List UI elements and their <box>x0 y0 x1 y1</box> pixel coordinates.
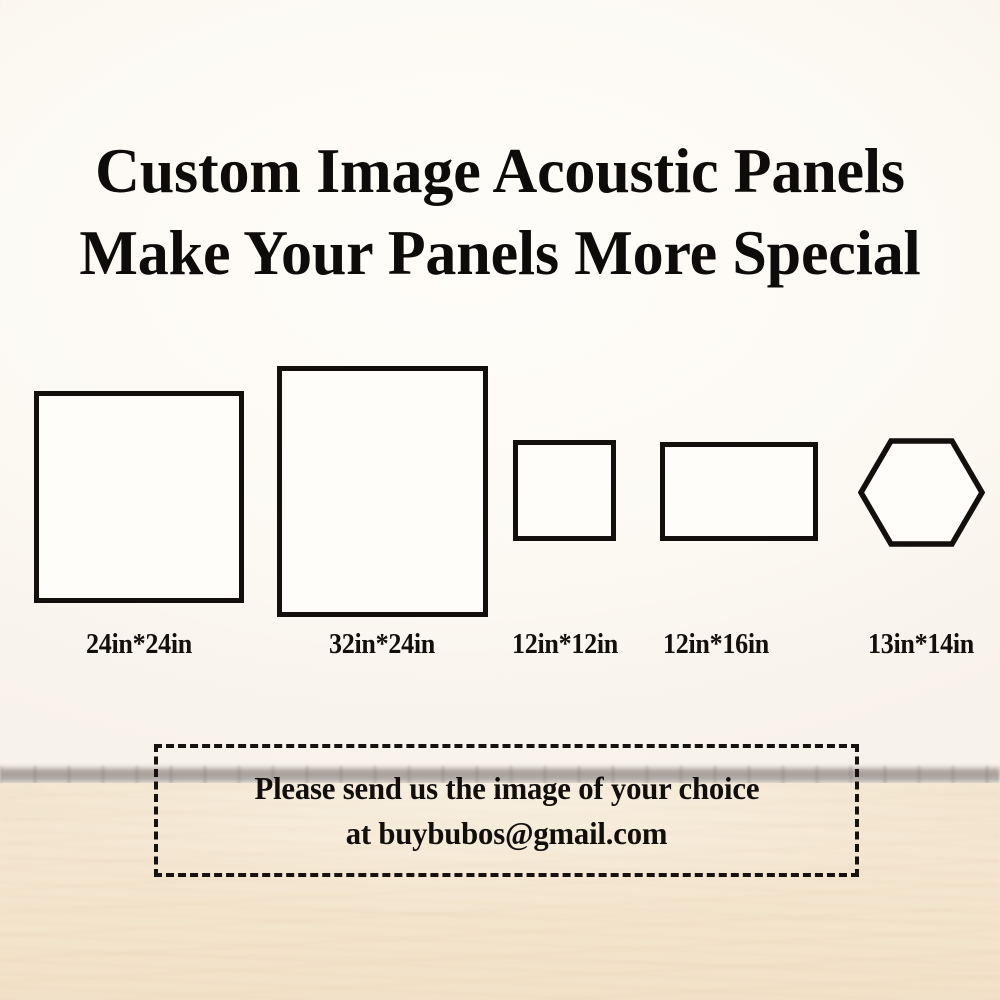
panel-shape-hexagon-13x14 <box>858 438 985 547</box>
panel-outline <box>34 391 244 603</box>
panel-shape-square-24x24 <box>34 391 244 603</box>
panel-shape-rectangle-32x24 <box>277 366 488 617</box>
panel-label-square-24x24: 24in*24in <box>23 628 256 662</box>
panel-outline <box>660 442 818 541</box>
panel-outline <box>513 440 616 541</box>
hexagon-icon <box>858 438 985 547</box>
callout-line-2: at buybubos@gmail.com <box>346 811 668 856</box>
panel-outline <box>277 366 488 617</box>
acoustic-panel-poster: Custom Image Acoustic Panels Make Your P… <box>0 0 1000 1000</box>
panel-shape-square-12x12 <box>513 440 616 541</box>
callout-line-1: Please send us the image of your choice <box>254 766 759 811</box>
contact-callout-box: Please send us the image of your choice … <box>154 744 859 877</box>
panel-shape-rectangle-12x16 <box>660 442 818 541</box>
panel-label-hexagon-13x14: 13in*14in <box>805 628 1000 662</box>
panel-label-rectangle-12x16: 12in*16in <box>600 628 833 662</box>
